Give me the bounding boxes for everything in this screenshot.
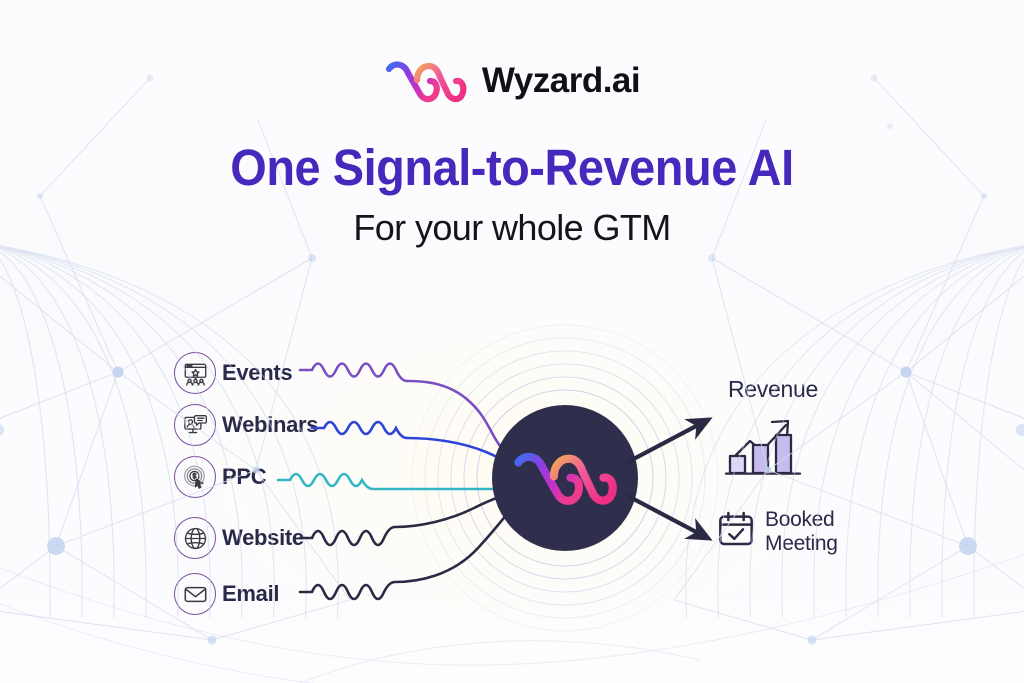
page-subtitle: For your whole GTM — [0, 210, 1024, 246]
header-block: Wyzard.ai One Signal-to-Revenue AI For y… — [0, 0, 1024, 246]
page-title: One Signal-to-Revenue AI — [41, 142, 983, 193]
signal-line-events — [300, 364, 510, 456]
brand-name: Wyzard.ai — [482, 63, 640, 98]
hub-orb — [492, 405, 638, 551]
brand-logo: Wyzard.ai — [0, 56, 1024, 104]
output-arrow-booked-meeting — [628, 496, 700, 534]
poster-canvas: Wyzard.ai One Signal-to-Revenue AI For y… — [0, 0, 1024, 683]
wyzard-wave-logo-icon — [384, 56, 468, 104]
